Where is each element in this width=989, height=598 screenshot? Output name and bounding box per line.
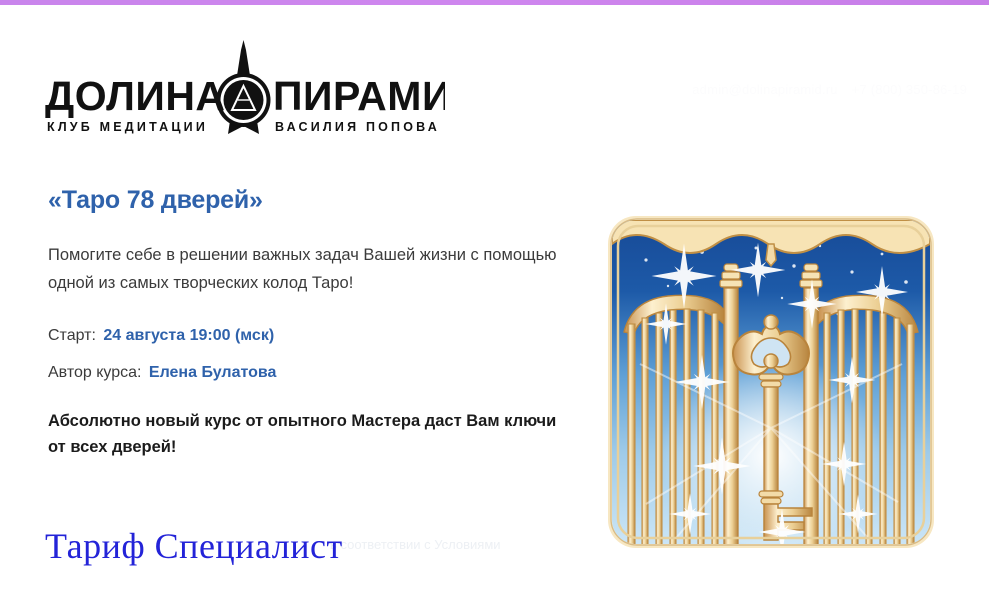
course-info-block: «Таро 78 дверей» Помогите себе в решении… [48,186,568,460]
course-description: Помогите себе в решении важных задач Ваш… [48,241,568,298]
course-highlight: Абсолютно новый курс от опытного Мастера… [48,409,568,460]
tariff-heading: Тариф Специалист [45,525,343,567]
tarot-card-image [606,214,936,550]
course-author-label: Автор курса: [48,364,141,381]
logo-tagline-right: ВАСИЛИЯ ПОПОВА [275,120,440,134]
page-title: «Таро 78 дверей» [48,186,568,215]
contact-strip: admin@dolinapiramid.ru +7 (800) 350-86-1… [692,82,967,97]
logo-tagline-left: КЛУБ МЕДИТАЦИИ [47,120,208,134]
legal-faint-note: в соответствии с Условиями [330,537,501,552]
logo-artwork: ДОЛИНА ПИРАМИД КЛУБ МЕДИТАЦИИ ВАСИЛИЯ ПО… [45,22,445,140]
contact-phone[interactable]: +7 (800) 350-86-19 [852,82,967,97]
contact-email[interactable]: admin@dolinapiramid.ru [692,82,838,97]
course-start-row: Старт: 24 августа 19:00 (мск) [48,326,568,347]
course-author-row: Автор курса: Елена Булатова [48,363,568,384]
top-accent-bar [0,0,989,5]
course-author-value: Елена Булатова [149,364,277,381]
site-logo[interactable]: ДОЛИНА ПИРАМИД КЛУБ МЕДИТАЦИИ ВАСИЛИЯ ПО… [45,22,445,140]
logo-word-left: ДОЛИНА [45,73,226,119]
course-start-value: 24 августа 19:00 (мск) [103,327,274,344]
logo-word-right: ПИРАМИД [273,73,445,119]
course-start-label: Старт: [48,327,96,344]
tarot-card-artwork [606,214,936,550]
